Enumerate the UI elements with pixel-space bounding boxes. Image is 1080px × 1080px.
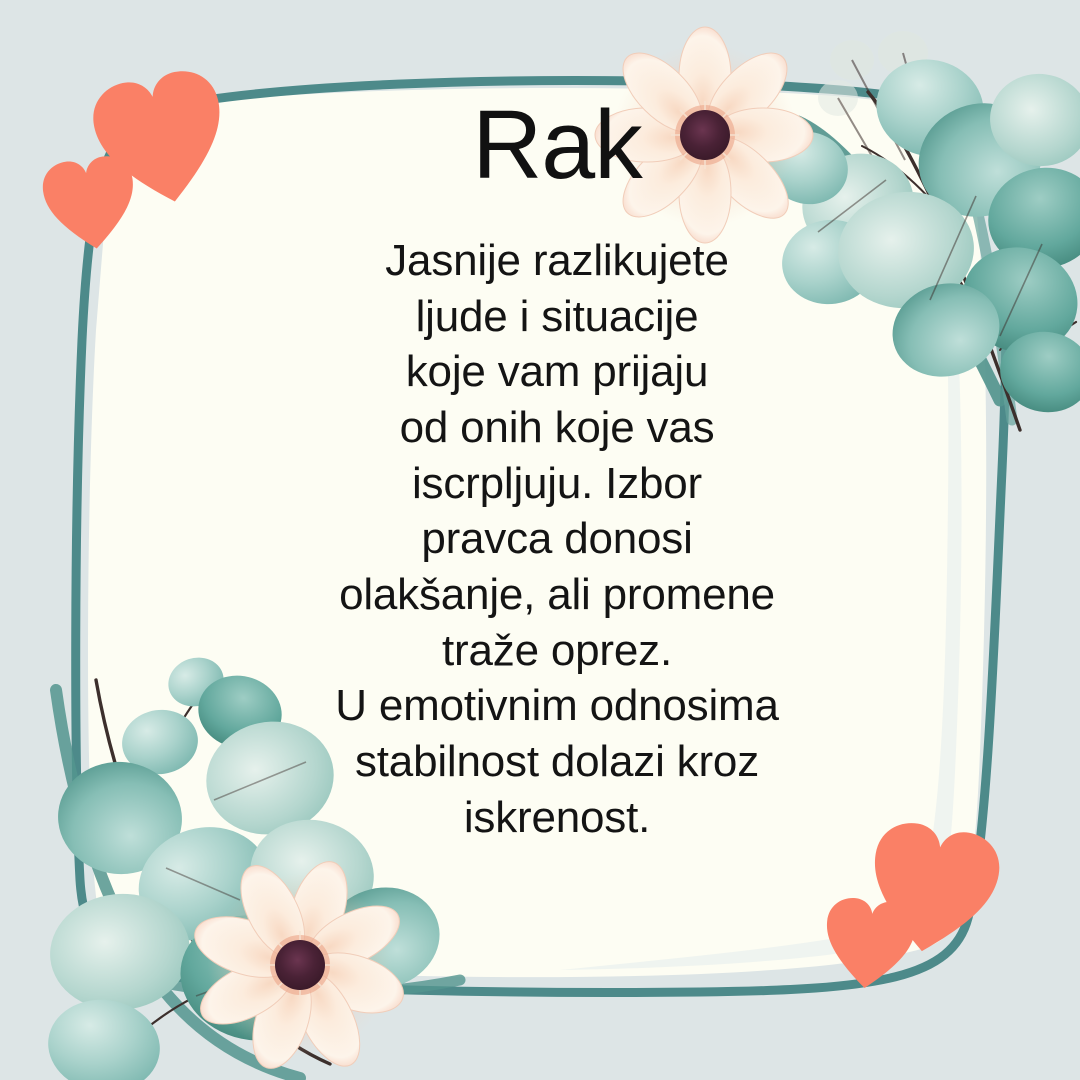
heart-small-bottom-right xyxy=(821,895,918,992)
poster-canvas: Rak Jasnije razlikujete ljude i situacij… xyxy=(0,0,1080,1080)
heart-small-top-left xyxy=(39,153,141,255)
hearts-layer xyxy=(0,0,1080,1080)
